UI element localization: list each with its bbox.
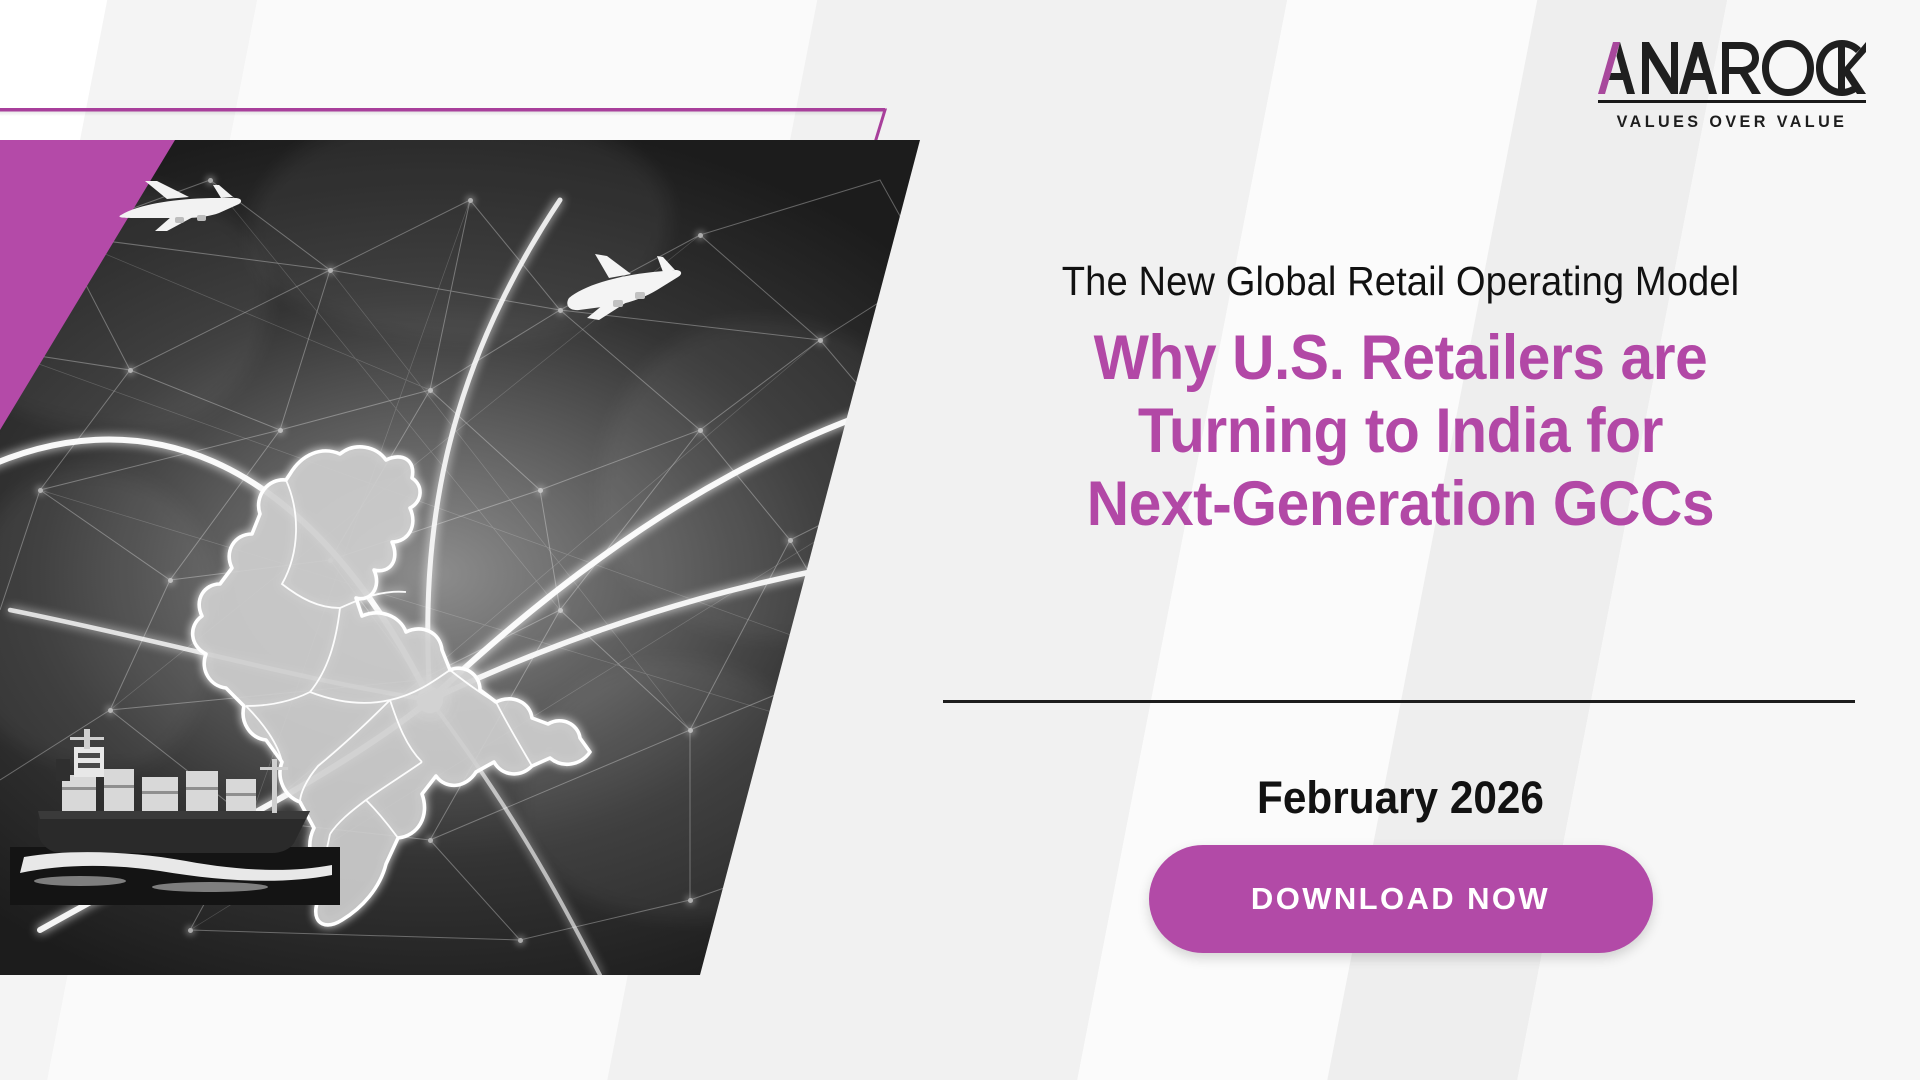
download-now-button[interactable]: DOWNLOAD NOW — [1149, 845, 1653, 953]
headline-line-3: Next-Generation GCCs — [975, 468, 1826, 541]
logo-divider — [1598, 100, 1866, 103]
headline-line-1: Why U.S. Retailers are — [975, 322, 1826, 395]
anarock-logo[interactable]: VALUES OVER VALUE — [1598, 40, 1866, 132]
top-accent-rule-shadow — [0, 111, 885, 116]
eyebrow-text: The New Global Retail Operating Model — [975, 258, 1826, 305]
page-title: Why U.S. Retailers are Turning to India … — [975, 322, 1826, 541]
airplane-icon — [565, 250, 685, 331]
content-column: The New Global Retail Operating Model Wh… — [943, 0, 1858, 1080]
promo-banner: The New Global Retail Operating Model Wh… — [0, 0, 1920, 1080]
airplane-icon — [115, 175, 245, 242]
horizontal-divider — [943, 700, 1855, 703]
publication-date: February 2026 — [970, 772, 1830, 824]
logo-tagline: VALUES OVER VALUE — [1605, 112, 1860, 132]
headline-line-2: Turning to India for — [975, 395, 1826, 468]
anarock-wordmark-icon — [1598, 40, 1866, 96]
container-ship — [10, 715, 340, 905]
